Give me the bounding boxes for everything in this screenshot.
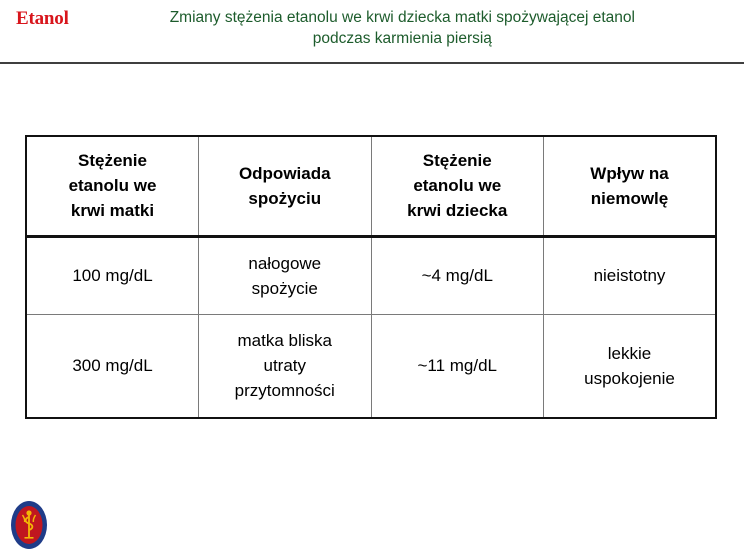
ethanol-concentration-table: Stężenie etanolu we krwi matki Odpowiada… [25,135,717,419]
column-header-child-blood-concentration: Stężenie etanolu we krwi dziecka [371,136,544,236]
page-title: Etanol [0,0,69,30]
table-row: 100 mg/dL nałogowe spożycie ~4 mg/dL nie… [26,236,716,314]
slide-header: Etanol Zmiany stężenia etanolu we krwi d… [0,0,744,64]
cell-infant-effect-2: lekkie uspokojenie [544,314,717,418]
slide-subtitle: Zmiany stężenia etanolu we krwi dziecka … [69,0,744,49]
subtitle-line-2: podczas karmienia piersią [79,28,726,49]
cell-intake-2: matka bliska utraty przytomności [199,314,372,418]
column-header-mother-blood-concentration: Stężenie etanolu we krwi matki [26,136,199,236]
cell-mother-concentration-2: 300 mg/dL [26,314,199,418]
cell-child-concentration-1: ~4 mg/dL [371,236,544,314]
table-row: 300 mg/dL matka bliska utraty przytomnoś… [26,314,716,418]
cell-child-concentration-2: ~11 mg/dL [371,314,544,418]
subtitle-line-1: Zmiany stężenia etanolu we krwi dziecka … [79,7,726,28]
column-header-infant-effect: Wpływ na niemowlę [544,136,717,236]
cell-infant-effect-1: nieistotny [544,236,717,314]
cell-intake-1: nałogowe spożycie [199,236,372,314]
table-header-row: Stężenie etanolu we krwi matki Odpowiada… [26,136,716,236]
cell-mother-concentration-1: 100 mg/dL [26,236,199,314]
header-divider [0,62,744,64]
university-emblem-icon [10,500,48,550]
column-header-corresponding-intake: Odpowiada spożyciu [199,136,372,236]
